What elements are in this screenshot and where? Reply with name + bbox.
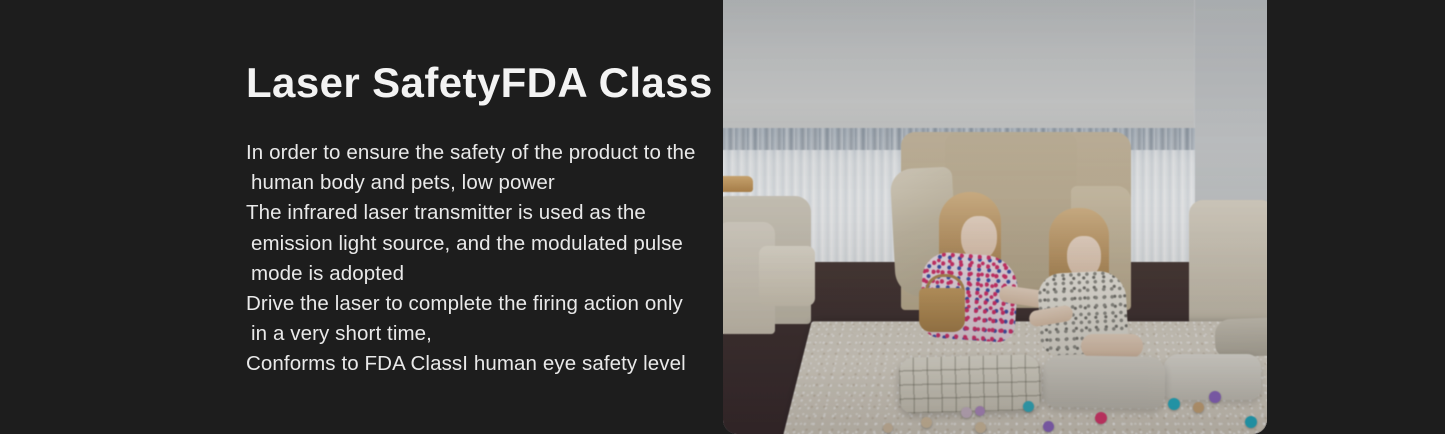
toy-ball	[921, 417, 932, 428]
description-paragraph-4: Conforms to FDA ClassI human eye safety …	[246, 349, 698, 379]
description-paragraph-3: Drive the laser to complete the firing a…	[246, 289, 698, 349]
description-paragraph-1: In order to ensure the safety of the pro…	[246, 138, 698, 198]
toy-ball	[1193, 402, 1204, 413]
toy-ball	[1168, 398, 1180, 410]
toy-ball	[1209, 391, 1221, 403]
child-right	[1023, 208, 1147, 358]
toy-ball	[1043, 421, 1054, 432]
floor-pillow-plaid	[898, 354, 1041, 414]
living-room-photo	[723, 0, 1267, 434]
floor-pillow-far	[1214, 316, 1267, 357]
toy-ball	[975, 406, 985, 416]
sofa-left-seat	[759, 246, 815, 306]
sofa-right	[1189, 200, 1267, 324]
toy-ball	[961, 407, 972, 418]
text-panel: Laser SafetyFDA Class In order to ensure…	[246, 0, 706, 434]
toy-ball	[883, 423, 893, 433]
floor-pillow-gray	[1043, 355, 1166, 409]
shelf-basket	[723, 176, 753, 192]
laser-safety-banner: Laser SafetyFDA Class In order to ensure…	[0, 0, 1445, 434]
toy-ball	[1095, 412, 1107, 424]
wall-back	[723, 0, 1267, 142]
child-right-legs	[1081, 334, 1143, 358]
page-title: Laser SafetyFDA Class	[246, 61, 713, 105]
toy-ball	[1023, 401, 1034, 412]
description-block: In order to ensure the safety of the pro…	[246, 138, 698, 380]
toy-ball	[1245, 416, 1257, 428]
description-paragraph-2: The infrared laser transmitter is used a…	[246, 198, 698, 289]
wicker-basket	[919, 288, 965, 332]
toy-ball	[975, 422, 986, 433]
